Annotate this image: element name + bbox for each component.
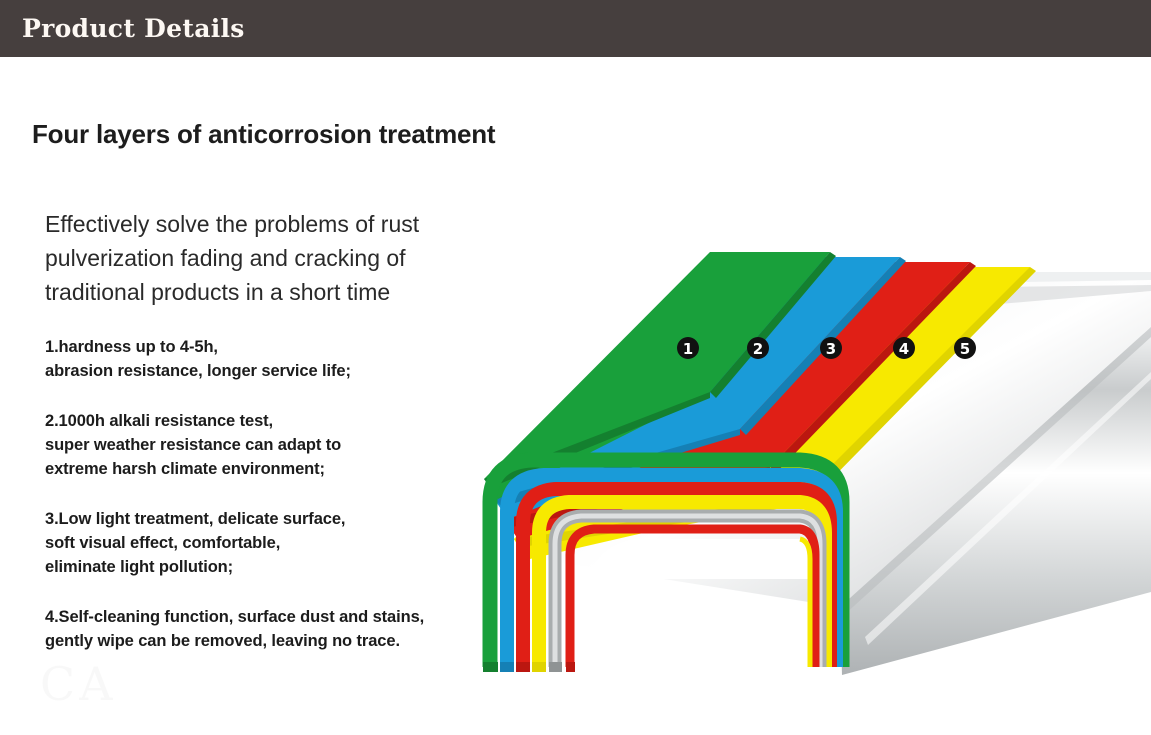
channel-cavity — [588, 539, 842, 667]
coating-layers-diagram: 1 2 3 4 5 — [470, 167, 1151, 687]
content-area: Four layers of anticorrosion treatment E… — [0, 57, 1151, 735]
section-heading: Four layers of anticorrosion treatment — [32, 119, 495, 150]
layer-badge-2: 2 — [747, 337, 769, 359]
watermark: CA — [40, 657, 510, 717]
layer-badge-5: 5 — [954, 337, 976, 359]
page-header-bar: Product Details — [0, 0, 1151, 57]
layer-badge-4-label: 4 — [899, 340, 909, 358]
layer-badge-2-label: 2 — [753, 340, 763, 358]
layer-badge-1-label: 1 — [683, 340, 693, 358]
channel-leg-ends — [483, 662, 575, 672]
layer-badge-3-label: 3 — [826, 340, 836, 358]
layer-badge-4: 4 — [893, 337, 915, 359]
layer-badge-3: 3 — [820, 337, 842, 359]
layer-badge-5-label: 5 — [960, 340, 970, 358]
layer-badge-1: 1 — [677, 337, 699, 359]
page-title: Product Details — [22, 0, 245, 57]
